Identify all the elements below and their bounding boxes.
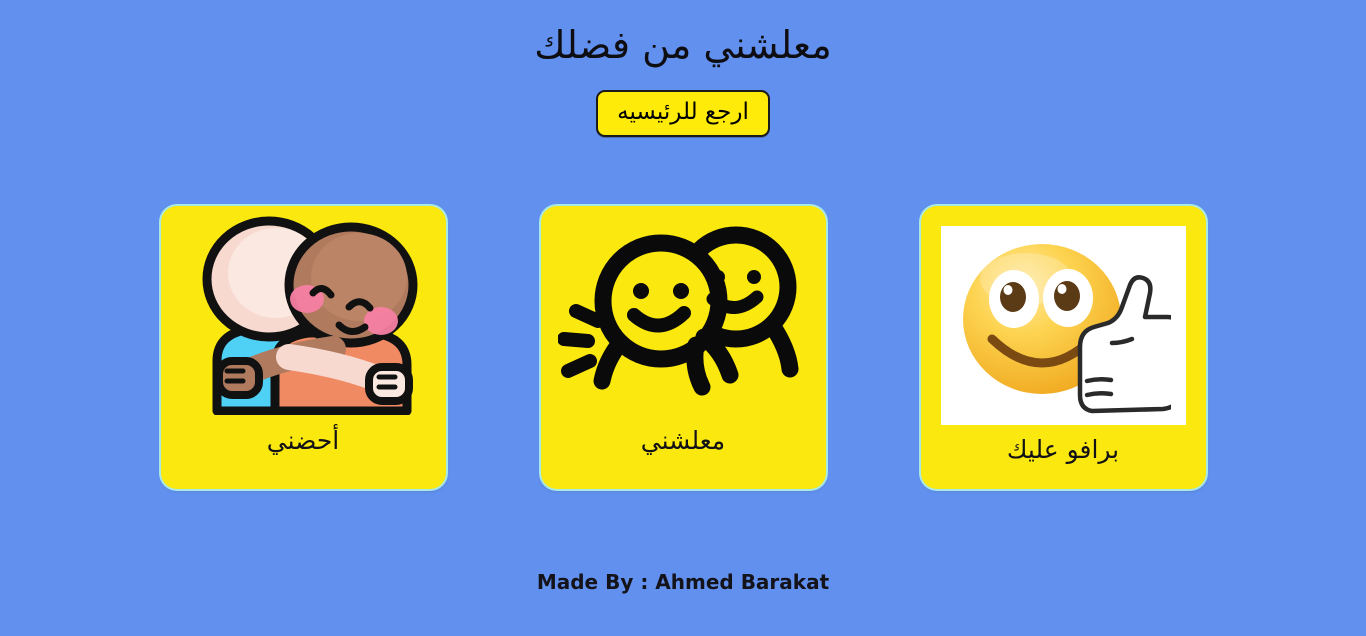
go-home-button[interactable]: ارجع للرئيسيه xyxy=(596,90,770,138)
page-root: { "header": { "title": "معلشني من فضلك",… xyxy=(0,0,1366,636)
home-button-container: ارجع للرئيسيه xyxy=(0,90,1366,138)
card-hug[interactable]: أحضني xyxy=(161,206,446,489)
card-sorry[interactable]: معلشني xyxy=(541,206,826,489)
two-smiling-faces-illustration xyxy=(541,206,826,424)
card-bravo[interactable]: برافو عليك xyxy=(921,206,1206,489)
card-label: معلشني xyxy=(641,426,725,456)
page-title: معلشني من فضلك xyxy=(0,0,1366,70)
thumbs-up-smiley-illustration xyxy=(941,226,1186,425)
footer-credit: Made By : Ahmed Barakat xyxy=(0,570,1366,594)
hug-illustration xyxy=(161,206,446,424)
card-label: برافو عليك xyxy=(1007,435,1119,465)
thumbs-up-smiley-plate xyxy=(921,206,1206,425)
cards-row: أحضني xyxy=(0,206,1366,489)
card-label: أحضني xyxy=(267,426,339,456)
